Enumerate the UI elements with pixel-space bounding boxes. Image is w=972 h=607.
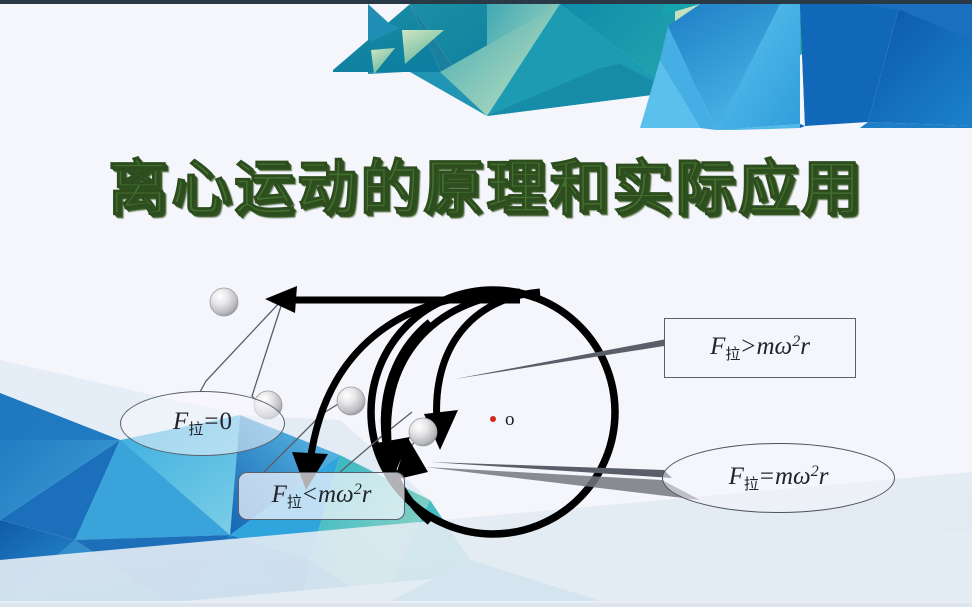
formula-symbol-f: F [272,481,287,508]
formula-expression: mω [756,333,792,360]
formula-f-less: F拉<mω2r [272,481,372,512]
callout-f-greater[interactable]: F拉>mω2r [664,318,856,378]
ball-on-circle [409,418,437,446]
formula-subscript: 拉 [287,492,302,510]
formula-subscript: 拉 [725,344,740,362]
formula-exponent: 2 [354,481,362,498]
formula-operator: = [759,463,775,490]
formula-operator: > [740,333,756,360]
circle-center-label: o [505,409,515,431]
formula-subscript: 拉 [188,420,203,438]
formula-expression: mω [775,463,811,490]
formula-operator: = [203,408,219,435]
slide-canvas: 离心运动的原理和实际应用 [0,0,972,607]
callout-f-less[interactable]: F拉<mω2r [238,472,405,520]
callout-f-zero[interactable]: F拉=0 [120,391,285,456]
formula-exponent: 2 [811,463,819,480]
formula-f-zero: F拉=0 [173,408,232,439]
ball-escaped [210,288,238,316]
leader-f-zero-upper [200,300,282,392]
tangent-arrowhead [265,286,297,313]
formula-variable: r [819,463,829,490]
formula-expression: mω [318,481,354,508]
formula-operator: < [302,481,318,508]
formula-variable: r [800,333,810,360]
formula-subscript: 拉 [744,474,759,492]
formula-symbol-f: F [729,463,744,490]
callout-f-equal[interactable]: F拉=mω2r [662,443,895,513]
formula-exponent: 2 [792,333,800,350]
formula-expression: 0 [219,408,232,435]
centrifugal-motion-diagram [0,0,972,607]
formula-symbol-f: F [173,408,188,435]
leader-f-greater [455,338,672,379]
ball-insufficient-force [337,387,365,415]
formula-f-equal: F拉=mω2r [729,463,829,494]
formula-f-greater: F拉>mω2r [710,333,810,364]
circle-center-dot [490,416,496,422]
formula-symbol-f: F [710,333,725,360]
formula-variable: r [362,481,372,508]
